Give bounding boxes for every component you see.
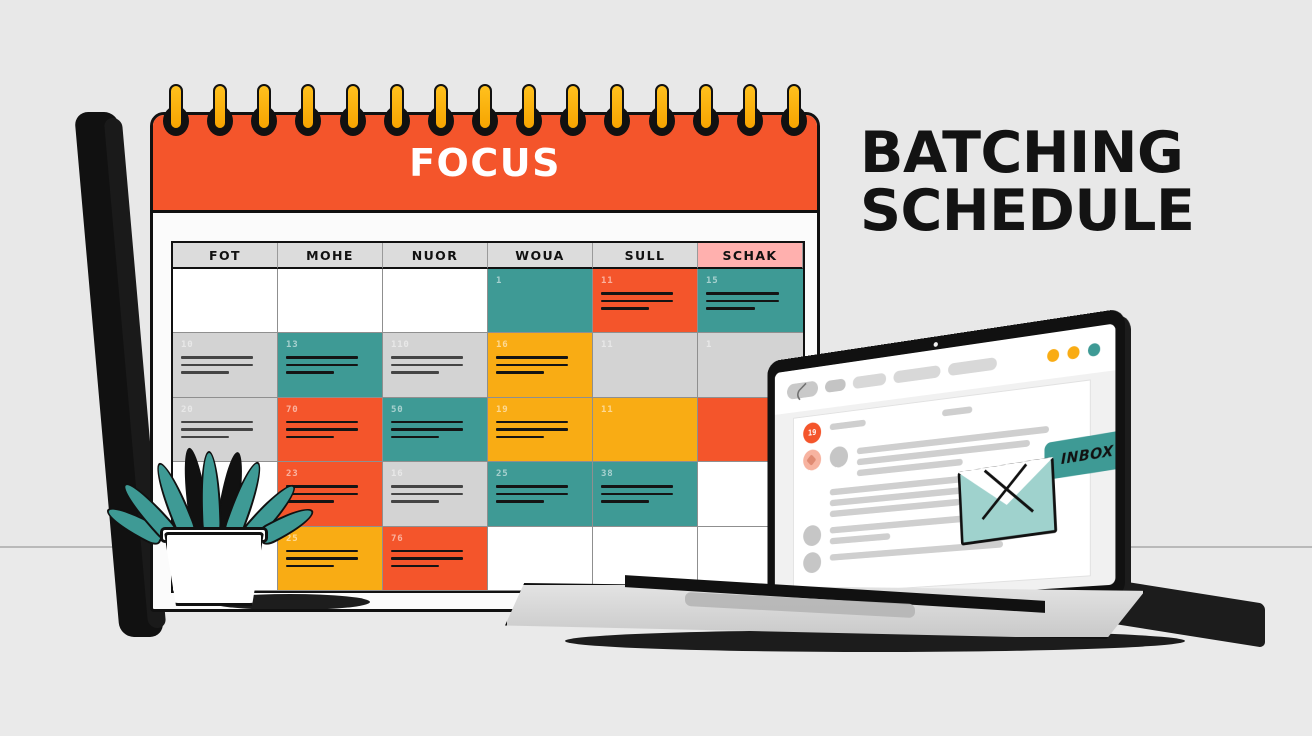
- calendar-event-line: [601, 292, 673, 295]
- calendar-event-line: [286, 550, 358, 553]
- calendar-cell[interactable]: [173, 269, 278, 333]
- calendar-event-line: [286, 485, 358, 488]
- laptop-screen: 19: [775, 323, 1116, 606]
- calendar-event-lines: [286, 421, 374, 439]
- spiral-binding: [150, 78, 820, 148]
- calendar-event-line: [181, 371, 229, 374]
- spiral-ring: [299, 84, 317, 146]
- window-dot-icon[interactable]: [1047, 348, 1059, 362]
- laptop: 19: [505, 300, 1165, 645]
- spiral-ring: [167, 84, 185, 146]
- browser-tab-pill[interactable]: [894, 365, 941, 384]
- calendar-event-line: [286, 371, 334, 374]
- calendar-day-number: 25: [286, 534, 374, 544]
- spiral-wire: [390, 84, 404, 130]
- calendar-event-line: [286, 557, 358, 560]
- calendar-event-line: [286, 565, 334, 568]
- spiral-ring: [476, 84, 494, 146]
- unread-count-badge: 19: [803, 421, 821, 444]
- page-title: BATCHING SCHEDULE: [860, 124, 1280, 240]
- calendar-cell[interactable]: 50: [383, 398, 488, 462]
- page-title-line-1: BATCHING: [860, 124, 1280, 182]
- laptop-lid: 19: [767, 308, 1125, 619]
- mail-line: [830, 419, 866, 430]
- calendar-day-number: 20: [181, 405, 269, 415]
- calendar-event-line: [286, 421, 358, 424]
- calendar-day-header-mohe: MOHE: [278, 243, 383, 269]
- spiral-wire: [169, 84, 183, 130]
- spiral-ring: [520, 84, 538, 146]
- spiral-ring: [785, 84, 803, 146]
- mail-line: [830, 541, 1004, 561]
- spiral-wire: [213, 84, 227, 130]
- spiral-ring: [388, 84, 406, 146]
- spiral-wire: [478, 84, 492, 130]
- calendar-event-line: [391, 421, 463, 424]
- calendar-day-number: 23: [286, 469, 374, 479]
- calendar-event-line: [286, 356, 358, 359]
- spiral-wire: [787, 84, 801, 130]
- calendar-cell[interactable]: 76: [383, 527, 488, 591]
- window-dot-icon[interactable]: [1088, 342, 1100, 357]
- envelope-icon: [958, 457, 1058, 546]
- spiral-wire: [346, 84, 360, 130]
- calendar-day-number: 11: [601, 276, 689, 286]
- calendar-event-line: [181, 421, 253, 424]
- calendar-event-line: [391, 356, 463, 359]
- spiral-ring: [608, 84, 626, 146]
- calendar-day-number: 15: [706, 276, 795, 286]
- spiral-wire: [257, 84, 271, 130]
- illustration-scene: FOCUS FOTMOHENUORWOUASULLSCHAK1111510131…: [0, 0, 1312, 736]
- calendar-day-header-schak: SCHAK: [698, 243, 803, 269]
- calendar-day-number: 50: [391, 405, 479, 415]
- calendar-event-line: [391, 371, 439, 374]
- calendar-event-line: [286, 364, 358, 367]
- calendar-event-lines: [286, 485, 374, 503]
- calendar-event-lines: [391, 550, 479, 568]
- calendar-event-line: [391, 485, 463, 488]
- calendar-event-line: [181, 364, 253, 367]
- spiral-ring: [741, 84, 759, 146]
- calendar-event-line: [706, 292, 779, 295]
- spiral-ring: [432, 84, 450, 146]
- calendar-cell[interactable]: 110: [383, 333, 488, 397]
- calendar-event-lines: [286, 356, 374, 374]
- calendar-event-line: [391, 364, 463, 367]
- spiral-ring: [255, 84, 273, 146]
- calendar-event-line: [391, 550, 463, 553]
- spiral-ring: [211, 84, 229, 146]
- page-title-line-2: SCHEDULE: [860, 182, 1280, 240]
- spiral-wire: [566, 84, 580, 130]
- calendar-cell[interactable]: [383, 269, 488, 333]
- calendar-day-number: 16: [391, 469, 479, 479]
- calendar-cell[interactable]: 70: [278, 398, 383, 462]
- spiral-wire: [301, 84, 315, 130]
- calendar-cell[interactable]: 25: [278, 527, 383, 591]
- avatar: [830, 445, 848, 468]
- window-dot-icon[interactable]: [1067, 345, 1079, 359]
- calendar-day-number: 110: [391, 340, 479, 350]
- back-arrow-icon[interactable]: [787, 380, 818, 400]
- browser-tab-pill[interactable]: [853, 373, 886, 390]
- calendar-day-header-fot: FOT: [173, 243, 278, 269]
- calendar-day-header-sull: SULL: [593, 243, 698, 269]
- calendar-event-line: [286, 500, 334, 503]
- calendar-day-header-woua: WOUA: [488, 243, 593, 269]
- calendar-event-lines: [181, 356, 269, 374]
- calendar-event-lines: [286, 550, 374, 568]
- calendar-event-line: [391, 557, 463, 560]
- calendar-event-line: [391, 493, 463, 496]
- spiral-wire: [699, 84, 713, 130]
- mail-line: [942, 406, 972, 416]
- calendar-cell[interactable]: [278, 269, 383, 333]
- spiral-wire: [434, 84, 448, 130]
- spiral-ring: [564, 84, 582, 146]
- browser-tab-pill[interactable]: [948, 357, 997, 376]
- spiral-wire: [743, 84, 757, 130]
- calendar-cell[interactable]: 16: [383, 462, 488, 526]
- calendar-event-line: [286, 428, 358, 431]
- calendar-event-line: [391, 436, 439, 439]
- spiral-wire: [610, 84, 624, 130]
- calendar-day-number: 70: [286, 405, 374, 415]
- calendar-day-number: 13: [286, 340, 374, 350]
- calendar-cell[interactable]: 10: [173, 333, 278, 397]
- calendar-event-line: [391, 500, 439, 503]
- calendar-event-line: [286, 436, 334, 439]
- spiral-ring: [653, 84, 671, 146]
- spiral-wire: [655, 84, 669, 130]
- spiral-wire: [522, 84, 536, 130]
- plant-pot: [164, 532, 264, 606]
- calendar-cell[interactable]: 13: [278, 333, 383, 397]
- calendar-day-number: 76: [391, 534, 479, 544]
- webcam-icon: [933, 342, 937, 347]
- calendar-day-number: 1: [496, 276, 584, 286]
- calendar-event-line: [391, 565, 439, 568]
- calendar-event-line: [286, 493, 358, 496]
- avatar: [803, 524, 821, 546]
- calendar-day-number: 10: [181, 340, 269, 350]
- calendar-day-header-nuor: NUOR: [383, 243, 488, 269]
- browser-tab-pill[interactable]: [825, 378, 846, 393]
- calendar-event-lines: [391, 421, 479, 439]
- calendar-event-lines: [391, 356, 479, 374]
- calendar-event-lines: [391, 485, 479, 503]
- spiral-ring: [697, 84, 715, 146]
- calendar-event-line: [181, 356, 253, 359]
- calendar-event-line: [391, 428, 463, 431]
- spiral-ring: [344, 84, 362, 146]
- avatar: [803, 552, 821, 574]
- potted-plant: [140, 424, 290, 609]
- heart-icon: [803, 449, 821, 472]
